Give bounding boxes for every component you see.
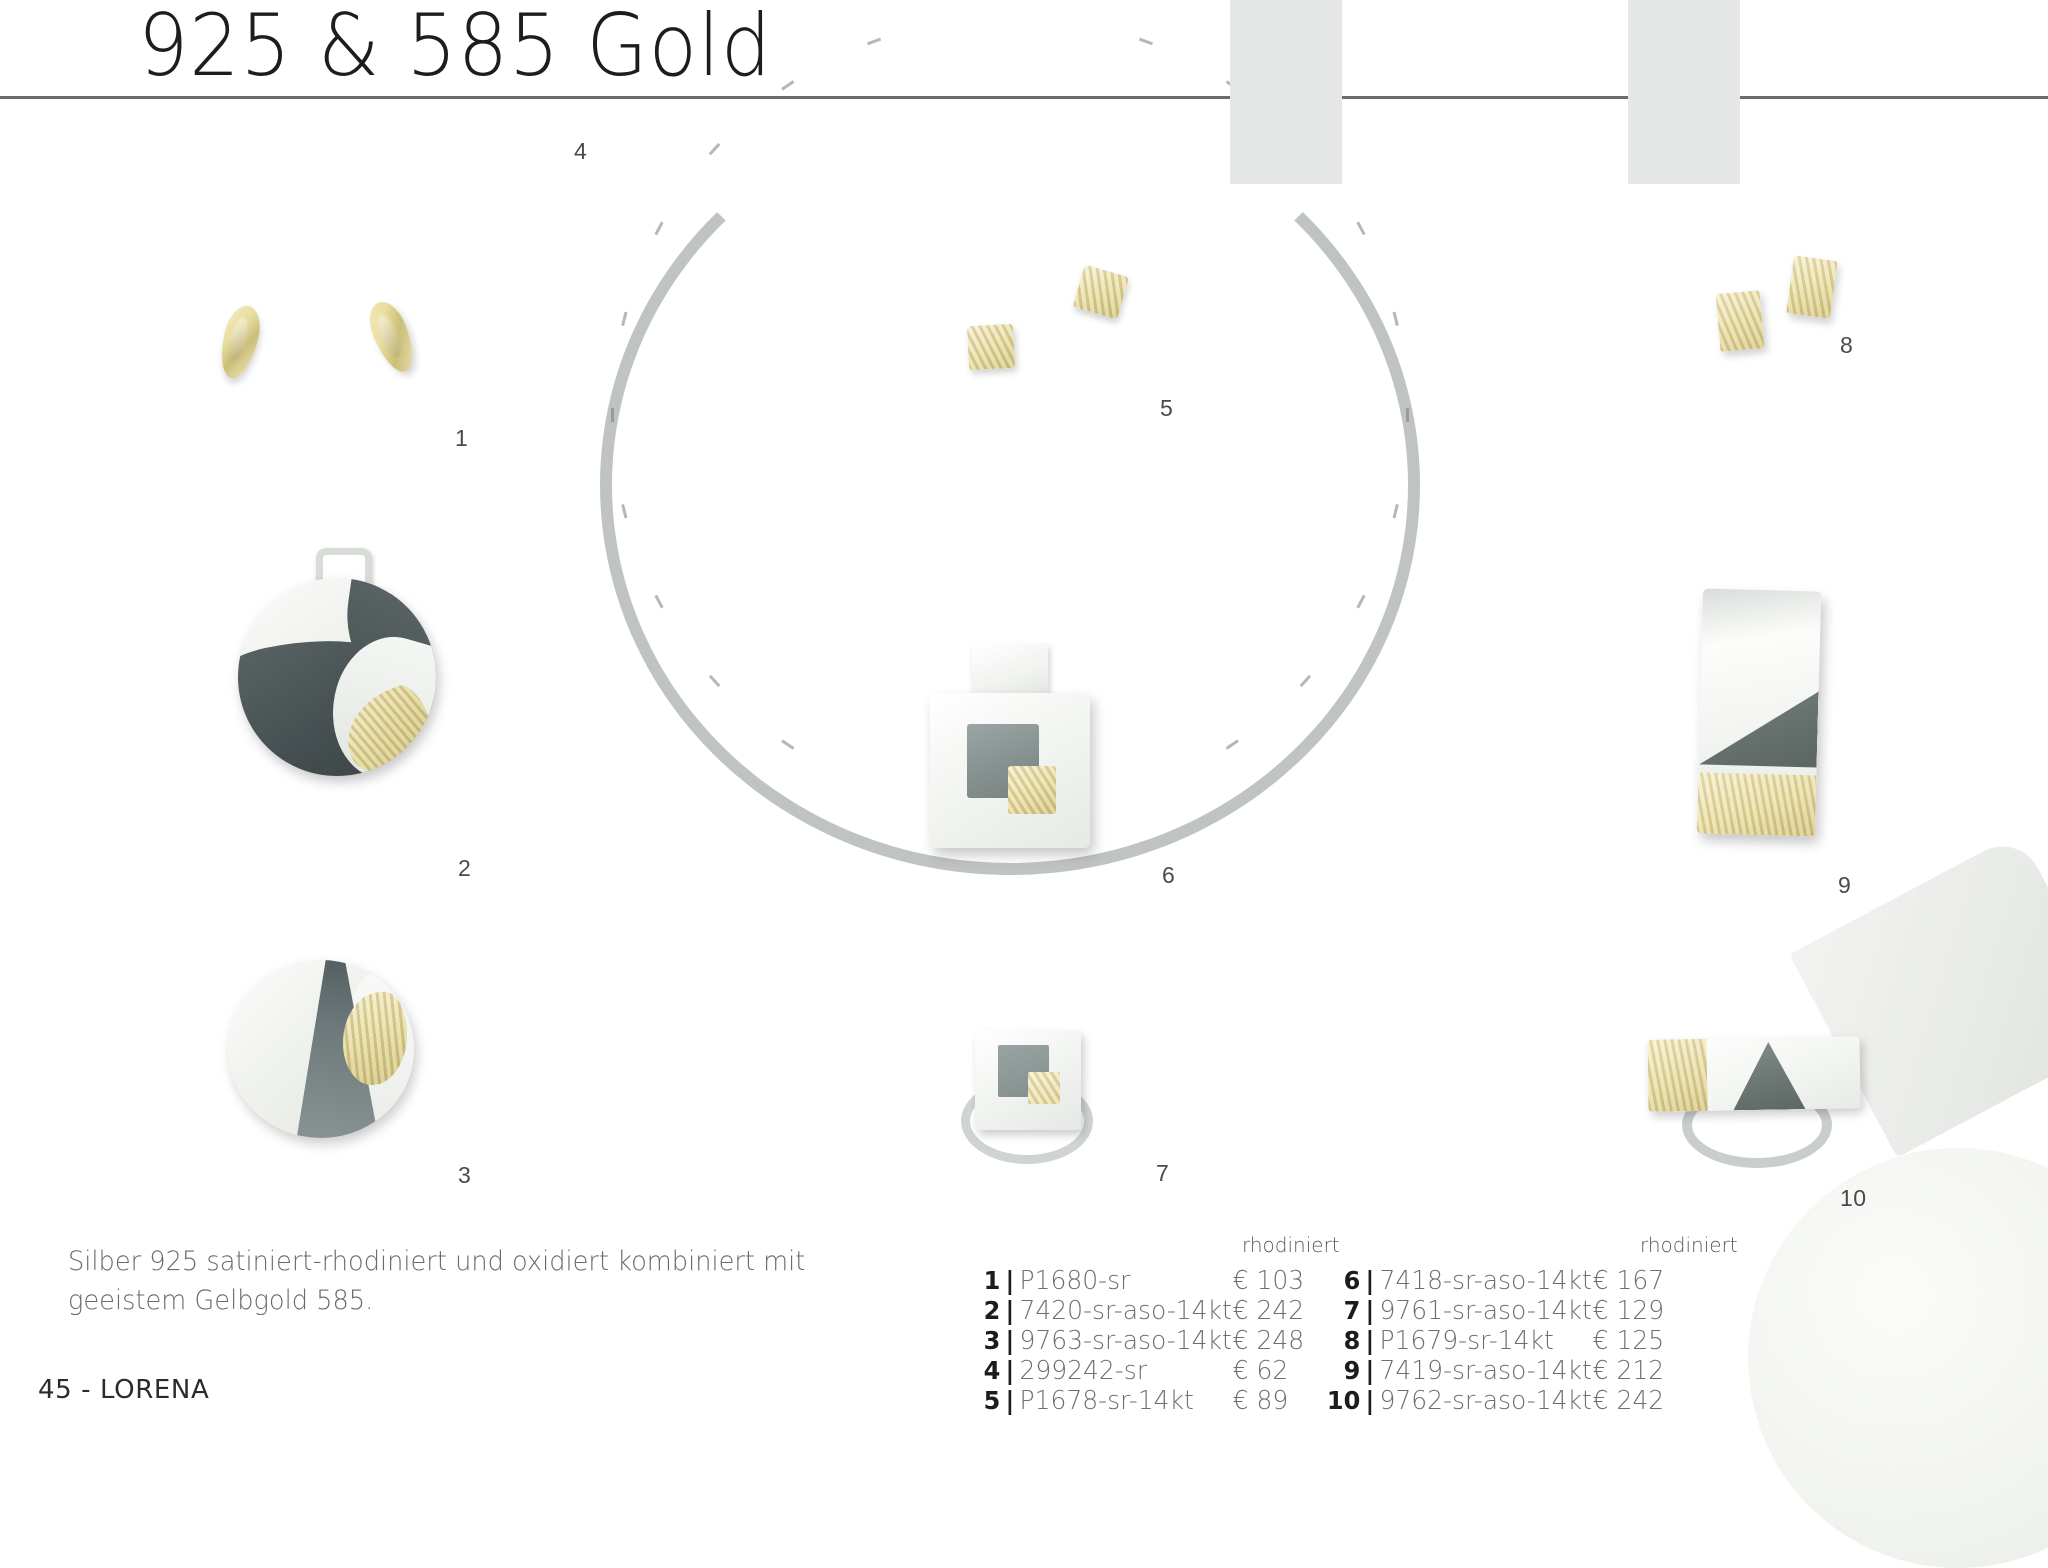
decorative-circle-shape	[1748, 1148, 2048, 1568]
price-row-code: 299242-sr	[1020, 1356, 1220, 1386]
page-title: 925 & 585 Gold	[138, 0, 772, 96]
product-9-rectangular-pendant	[1700, 590, 1818, 835]
price-row-separator: |	[1000, 1326, 1019, 1355]
price-row-separator: |	[1000, 1296, 1019, 1325]
price-rows-right: 6 | 7418-sr-aso-14kt € 167 7 | 9761-sr-a…	[1320, 1266, 1710, 1416]
price-column-header: rhodiniert	[1628, 1230, 1740, 1260]
price-row-price: € 212	[1579, 1356, 1694, 1386]
price-row-price: € 125	[1579, 1326, 1694, 1356]
product-3-round-brooch	[228, 960, 414, 1138]
price-row-price: € 103	[1219, 1266, 1334, 1296]
item-number-7: 7	[1156, 1160, 1169, 1187]
price-row-price: € 167	[1579, 1266, 1694, 1296]
product-8-stud-left	[1716, 290, 1765, 352]
necklace-segment-joint	[1009, 414, 1407, 416]
price-row-price: € 242	[1219, 1296, 1334, 1326]
price-row: 8 | P1679-sr-14kt € 125	[1320, 1326, 1694, 1356]
price-row-code: 7419-sr-aso-14kt	[1380, 1356, 1580, 1386]
price-row: 1 | P1680-sr € 103	[960, 1266, 1334, 1296]
price-row: 2 | 7420-sr-aso-14kt € 242	[960, 1296, 1334, 1326]
price-row-number: 9	[1320, 1356, 1360, 1385]
price-row-price: € 62	[1219, 1356, 1334, 1386]
page-footer: 45 - LORENA	[38, 1375, 209, 1405]
necklace-segment-joint	[613, 414, 1011, 416]
item-number-6: 6	[1162, 862, 1175, 889]
price-row-number: 8	[1320, 1326, 1360, 1355]
price-row-code: 9762-sr-aso-14kt	[1380, 1386, 1580, 1416]
bar-ring-top-plate	[1647, 1036, 1860, 1112]
product-7-square-ring	[955, 1030, 1105, 1170]
price-row-separator: |	[1000, 1356, 1019, 1385]
price-row-code: 7420-sr-aso-14kt	[1020, 1296, 1220, 1326]
product-2-round-pendant	[238, 578, 436, 776]
rect-pendant-oxidized-triangle	[1699, 672, 1819, 768]
pendant-disc	[238, 578, 436, 776]
ring-top-plate	[975, 1030, 1081, 1130]
price-row-number: 5	[960, 1386, 1000, 1415]
price-row-price: € 129	[1579, 1296, 1694, 1326]
product-1-earring-right	[362, 296, 421, 377]
price-row-number: 10	[1320, 1386, 1360, 1415]
price-row-code: P1679-sr-14kt	[1380, 1326, 1580, 1356]
price-row-code: 9761-sr-aso-14kt	[1380, 1296, 1580, 1326]
price-row-separator: |	[1000, 1386, 1019, 1415]
item-number-5: 5	[1160, 395, 1173, 422]
ring-gold-inlay	[1028, 1072, 1060, 1104]
item-number-9: 9	[1838, 872, 1851, 899]
bar-ring-oxidized-triangle	[1732, 1041, 1805, 1110]
product-1-earring-left	[215, 302, 266, 382]
price-row-code: P1678-sr-14kt	[1020, 1386, 1220, 1416]
price-row-number: 7	[1320, 1296, 1360, 1325]
price-row: 3 | 9763-sr-aso-14kt € 248	[960, 1326, 1334, 1356]
price-row-code: 7418-sr-aso-14kt	[1380, 1266, 1580, 1296]
price-row: 10 | 9762-sr-aso-14kt € 242	[1320, 1386, 1694, 1416]
item-number-2: 2	[458, 855, 471, 882]
price-row: 5 | P1678-sr-14kt € 89	[960, 1386, 1334, 1416]
item-number-1: 1	[455, 425, 468, 452]
price-row-number: 2	[960, 1296, 1000, 1325]
bar-ring-gold-inlay	[1647, 1039, 1708, 1112]
price-row-separator: |	[1000, 1266, 1019, 1295]
item-number-10: 10	[1840, 1185, 1867, 1212]
item-number-3: 3	[458, 1162, 471, 1189]
price-row-number: 1	[960, 1266, 1000, 1295]
brooch-disc	[228, 960, 414, 1138]
price-row-code: P1680-sr	[1020, 1266, 1220, 1296]
price-row-price: € 89	[1219, 1386, 1334, 1416]
rect-pendant-plate	[1697, 588, 1821, 836]
price-row: 7 | 9761-sr-aso-14kt € 129	[1320, 1296, 1694, 1326]
price-row: 6 | 7418-sr-aso-14kt € 167	[1320, 1266, 1694, 1296]
price-row-code: 9763-sr-aso-14kt	[1020, 1326, 1220, 1356]
price-row-price: € 248	[1219, 1326, 1334, 1356]
product-8-stud-right	[1786, 255, 1838, 319]
price-row-separator: |	[1360, 1326, 1379, 1355]
price-rows-left: 1 | P1680-sr € 103 2 | 7420-sr-aso-14kt …	[960, 1266, 1350, 1416]
price-column-header: rhodiniert	[1230, 1230, 1342, 1260]
price-row-separator: |	[1360, 1356, 1379, 1385]
price-row-number: 4	[960, 1356, 1000, 1385]
price-row-price: € 242	[1579, 1386, 1694, 1416]
product-6-square-pendant	[930, 693, 1090, 848]
price-column-highlight-left	[1230, 0, 1342, 184]
price-row-separator: |	[1360, 1266, 1379, 1295]
price-row: 4 | 299242-sr € 62	[960, 1356, 1334, 1386]
item-number-8: 8	[1840, 332, 1853, 359]
square-pendant-gold-inlay	[1008, 766, 1056, 814]
price-row: 9 | 7419-sr-aso-14kt € 212	[1320, 1356, 1694, 1386]
product-5-stud-left	[967, 324, 1015, 370]
rect-pendant-gold-band	[1697, 772, 1817, 836]
product-description: Silber 925 satiniert-rhodiniert und oxid…	[68, 1242, 847, 1320]
product-4-collar-necklace	[600, 95, 1420, 735]
product-10-bar-ring	[1640, 1020, 1870, 1160]
price-row-number: 6	[1320, 1266, 1360, 1295]
price-row-separator: |	[1360, 1296, 1379, 1325]
price-row-number: 3	[960, 1326, 1000, 1355]
item-number-4: 4	[574, 138, 587, 165]
price-column-highlight-right	[1628, 0, 1740, 184]
price-row-separator: |	[1360, 1386, 1379, 1415]
